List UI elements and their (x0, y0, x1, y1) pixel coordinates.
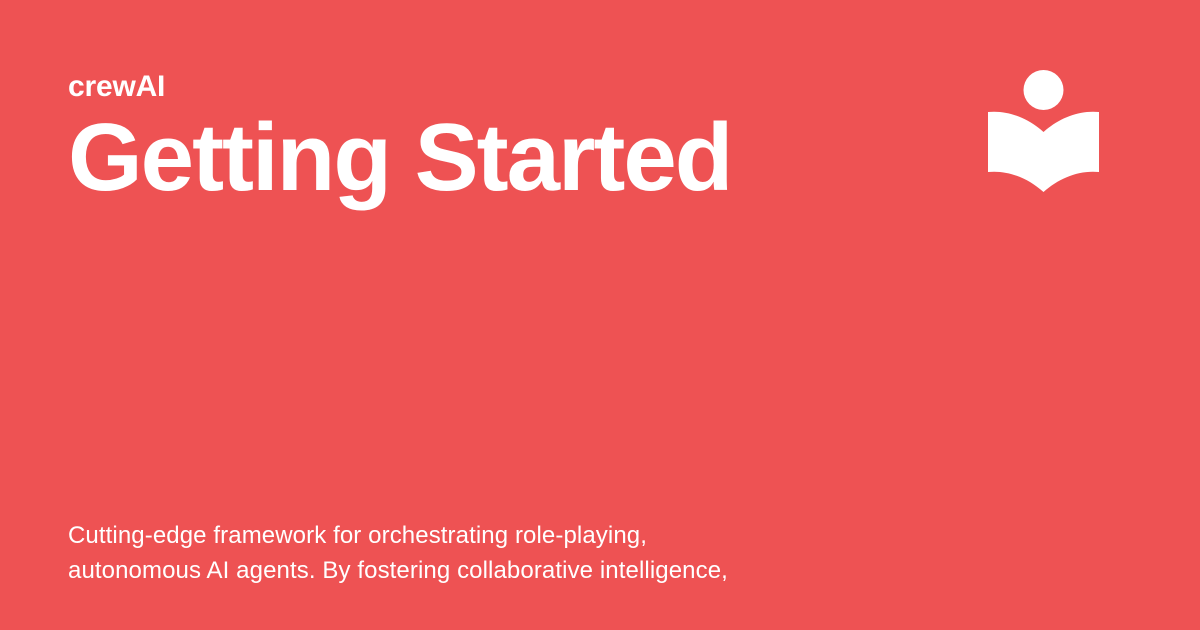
og-card: crewAI Getting Started Cutting-edge fram… (0, 0, 1200, 630)
page-title: Getting Started (68, 108, 1132, 208)
brand-title: crewAI (68, 66, 165, 102)
card-header: crewAI (0, 0, 1200, 102)
open-book-reader-icon (988, 70, 1099, 192)
description-line-1: Cutting-edge framework for orchestrating… (68, 518, 858, 553)
description-line-2: autonomous AI agents. By fostering colla… (68, 553, 858, 588)
layout-spacer (0, 208, 1200, 518)
page-description: Cutting-edge framework for orchestrating… (68, 518, 858, 588)
description-block: Cutting-edge framework for orchestrating… (0, 518, 1200, 630)
